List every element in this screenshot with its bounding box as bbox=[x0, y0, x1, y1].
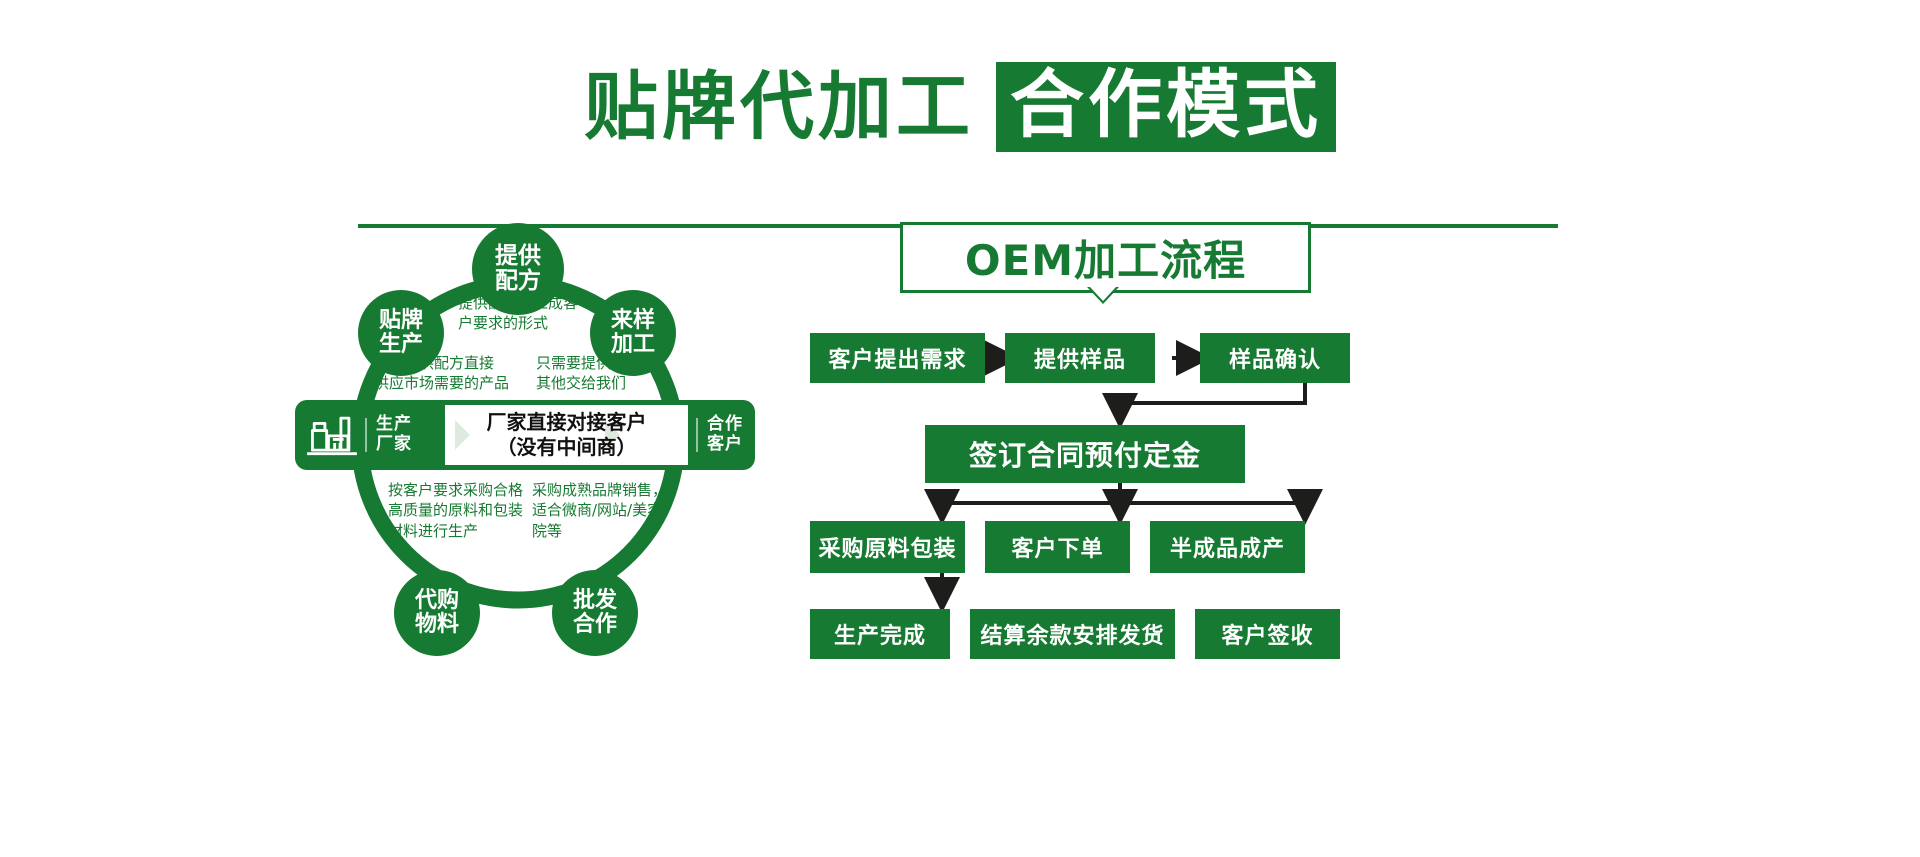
infographic-root: 贴牌代加工 合作模式 提供 配方 来样 加工 贴牌 生产 代购 物料 批发 合作 bbox=[0, 0, 1920, 857]
flow-box-customer-order[interactable]: 客户下单 bbox=[985, 521, 1130, 573]
chevron-right-icon-left bbox=[455, 420, 470, 450]
flow-box-semi-finished-production[interactable]: 半成品成产 bbox=[1150, 521, 1305, 573]
cycle-node-line1: 代购 bbox=[415, 589, 459, 613]
flow-box-provide-sample[interactable]: 提供样品 bbox=[1005, 333, 1155, 383]
center-bar-manufacturer[interactable]: 生产 厂家 bbox=[295, 400, 412, 470]
flow-box-sample-confirm[interactable]: 样品确认 bbox=[1200, 333, 1350, 383]
cycle-node-line2: 物料 bbox=[415, 613, 459, 637]
center-bar-customers[interactable]: 合作 客户 bbox=[640, 400, 747, 470]
page-title-highlight: 合作模式 bbox=[996, 62, 1336, 152]
cycle-node-material-purchasing[interactable]: 代购 物料 bbox=[394, 570, 480, 656]
cycle-desc-bottom-right: 采购成熟品牌销售， 适合微商/网站/美容 院等 bbox=[532, 480, 732, 541]
oem-process-flowchart: OEM加工流程 bbox=[990, 255, 1610, 675]
flow-box-customer-request[interactable]: 客户提出需求 bbox=[810, 333, 985, 383]
cooperation-cycle-diagram: 提供 配方 来样 加工 贴牌 生产 代购 物料 批发 合作 提供配方加工成客 户… bbox=[290, 255, 790, 675]
flowchart-title-chevron-down-icon bbox=[1090, 287, 1116, 301]
cycle-node-line1: 贴牌 bbox=[379, 309, 423, 333]
center-bar-customers-label: 合作 客户 bbox=[707, 415, 747, 454]
flow-box-customer-receipt[interactable]: 客户签收 bbox=[1195, 609, 1340, 659]
center-bar-core-text: 厂家直接对接客户 （没有中间商） bbox=[487, 410, 647, 460]
flow-box-settle-balance-ship[interactable]: 结算余款安排发货 bbox=[970, 609, 1175, 659]
customers-icon bbox=[640, 411, 690, 459]
page-title: 贴牌代加工 合作模式 bbox=[0, 62, 1920, 152]
center-bar-manufacturer-label: 生产 厂家 bbox=[376, 415, 412, 454]
cycle-node-line2: 配方 bbox=[495, 269, 541, 294]
cycle-node-line2: 合作 bbox=[573, 613, 617, 637]
factory-icon bbox=[305, 411, 359, 459]
center-bar-separator-2 bbox=[696, 418, 698, 452]
cycle-node-wholesale-cooperation[interactable]: 批发 合作 bbox=[552, 570, 638, 656]
center-bar-separator bbox=[365, 418, 367, 452]
flow-box-purchase-materials[interactable]: 采购原料包装 bbox=[810, 521, 965, 573]
cycle-desc-right: 只需要提供样品 其他交给我们 bbox=[536, 353, 726, 394]
flow-box-production-complete[interactable]: 生产完成 bbox=[810, 609, 950, 659]
flow-box-sign-contract-deposit[interactable]: 签订合同预付定金 bbox=[925, 425, 1245, 483]
cycle-node-line1: 提供 bbox=[495, 244, 541, 269]
cycle-desc-top: 提供配方加工成客 户要求的形式 bbox=[458, 293, 648, 334]
page-title-plain: 贴牌代加工 bbox=[584, 70, 974, 144]
cycle-node-line1: 批发 bbox=[573, 589, 617, 613]
center-connection-bar: 生产 厂家 厂家直接对接客户 （没有中间商） 合作 客户 bbox=[295, 400, 755, 470]
